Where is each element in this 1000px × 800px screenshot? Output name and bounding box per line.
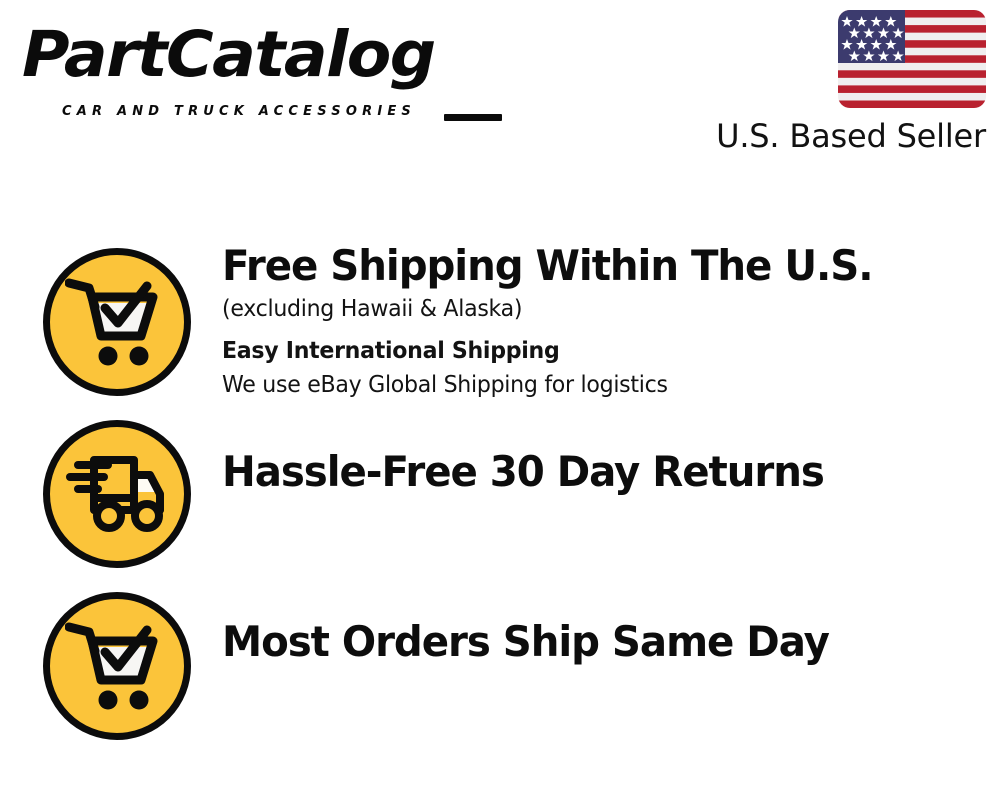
feature-title: Most Orders Ship Same Day [222, 616, 952, 668]
shopping-cart-check-icon [43, 248, 191, 396]
feature-title: Free Shipping Within The U.S. [222, 240, 952, 292]
delivery-truck-icon [43, 420, 191, 568]
us-flag-icon [838, 10, 986, 108]
feature-title: Hassle-Free 30 Day Returns [222, 446, 952, 498]
feature-subtitle: (excluding Hawaii & Alaska) [222, 292, 952, 326]
feature-subtitle: Easy International Shipping [222, 334, 952, 368]
brand-logo[interactable]: PartCatalog CAR AND TRUCK ACCESSORIES [22, 18, 492, 118]
us-based-seller-label: U.S. Based Seller [716, 117, 986, 155]
brand-wordmark: PartCatalog [22, 18, 435, 92]
feature-text-block: Hassle-Free 30 Day Returns [222, 446, 982, 498]
brand-tagline: CAR AND TRUCK ACCESSORIES [62, 104, 416, 120]
feature-text-block: Free Shipping Within The U.S. (excluding… [222, 240, 982, 402]
shopping-cart-check-icon [43, 592, 191, 740]
feature-row: Free Shipping Within The U.S. (excluding… [0, 240, 1000, 406]
feature-subtitle: We use eBay Global Shipping for logistic… [222, 368, 952, 402]
feature-text-block: Most Orders Ship Same Day [222, 616, 982, 668]
brand-underline-stroke [444, 114, 502, 121]
feature-row: Hassle-Free 30 Day Returns [0, 412, 1000, 578]
page-header: PartCatalog CAR AND TRUCK ACCESSORIES [0, 0, 1000, 175]
feature-row: Most Orders Ship Same Day [0, 584, 1000, 750]
